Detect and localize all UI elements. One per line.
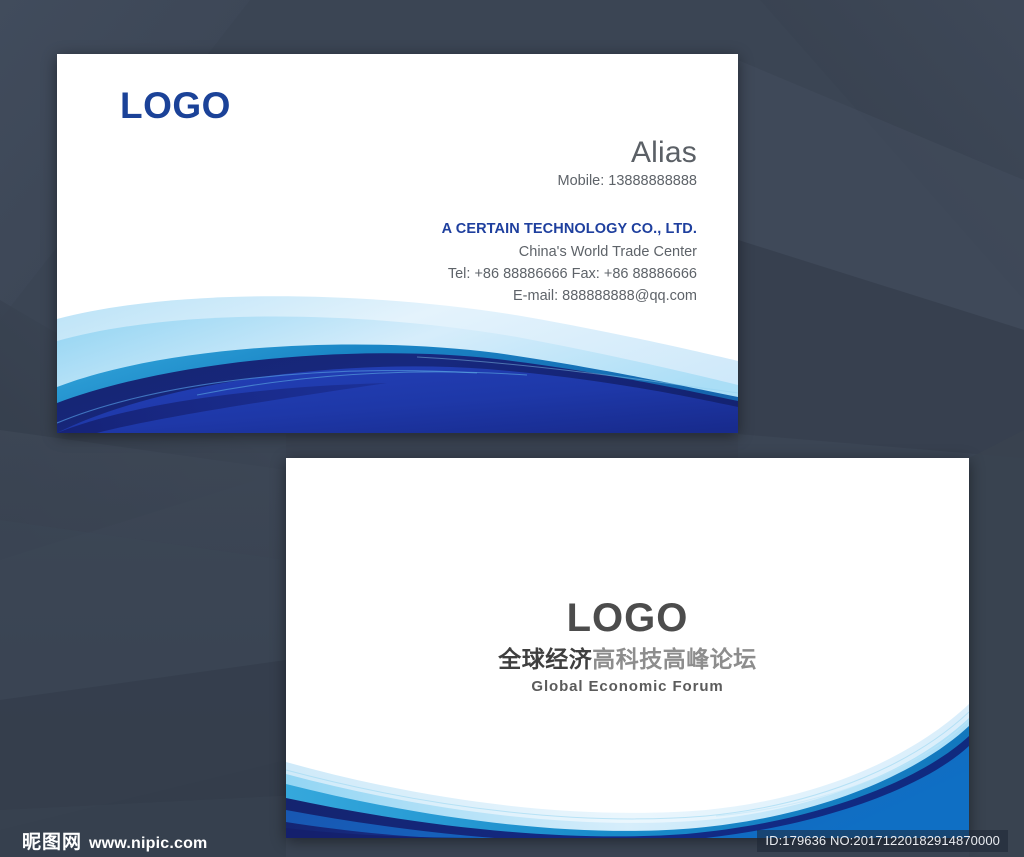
back-slogan-chinese-light: 高科技高峰论坛 [592,646,757,672]
back-branding-block: LOGO 全球经济高科技高峰论坛 Global Economic Forum [286,598,969,696]
back-logo-text: LOGO [286,598,969,638]
site-watermark: 昵图网 www.nipic.com [22,827,207,854]
footer-bar: 昵图网 www.nipic.com ID:179636 NO:201712201… [0,821,1024,857]
back-slogan-chinese: 全球经济高科技高峰论坛 [286,647,969,672]
person-mobile: Mobile: 13888888888 [267,171,697,193]
person-name: Alias [267,136,697,170]
business-card-front: LOGO Alias Mobile: 13888888888 A CERTAIN… [57,54,738,433]
company-name: A CERTAIN TECHNOLOGY CO., LTD. [267,219,697,241]
front-wave-graphic [57,283,738,433]
back-slogan-chinese-dark: 全球经济 [498,646,592,672]
watermark-url-text: www.nipic.com [89,835,207,853]
front-logo-text: LOGO [120,87,231,124]
image-id-label: ID:179636 NO:20171220182914870000 [757,830,1008,852]
company-address: China's World Trade Center [267,241,697,263]
canvas-stage: LOGO Alias Mobile: 13888888888 A CERTAIN… [0,0,1024,857]
front-contact-block: Alias Mobile: 13888888888 A CERTAIN TECH… [267,136,697,308]
back-wave-graphic [286,688,969,838]
business-card-back: LOGO 全球经济高科技高峰论坛 Global Economic Forum [286,458,969,838]
watermark-logo-text: 昵图网 [22,827,82,854]
